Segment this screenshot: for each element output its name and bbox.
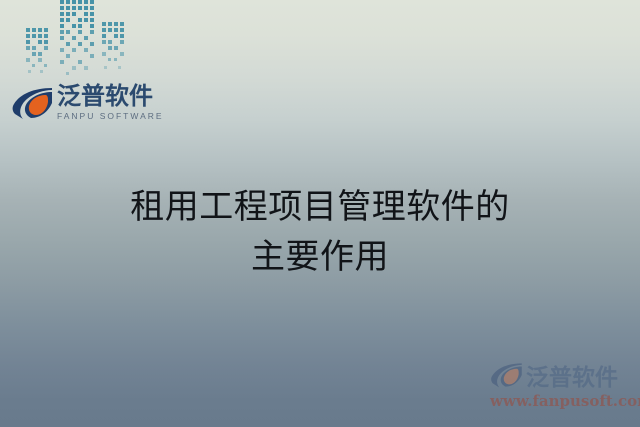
watermark-url: www.fanpusoft.com — [490, 392, 636, 410]
article-banner: 泛普软件 FANPU SOFTWARE 租用工程项目管理软件的 主要作用 泛普软… — [0, 0, 640, 427]
brand-name-cn: 泛普软件 — [57, 85, 164, 109]
page-title-line-2: 主要作用 — [0, 232, 640, 282]
pixel-city-skyline-icon — [22, 0, 142, 78]
watermark-logo-row: 泛普软件 — [490, 359, 636, 391]
watermark: 泛普软件 www.fanpusoft.com — [490, 359, 636, 415]
brand-name-en: FANPU SOFTWARE — [57, 112, 164, 121]
brand-logo: 泛普软件 FANPU SOFTWARE — [12, 80, 152, 126]
fanpu-swoosh-mark-icon — [12, 85, 54, 121]
watermark-brand-name: 泛普软件 — [526, 358, 618, 392]
page-title-line-1: 租用工程项目管理软件的 — [0, 182, 640, 232]
fanpu-swoosh-mark-watermark-icon — [490, 361, 524, 389]
page-title: 租用工程项目管理软件的 主要作用 — [0, 182, 640, 282]
